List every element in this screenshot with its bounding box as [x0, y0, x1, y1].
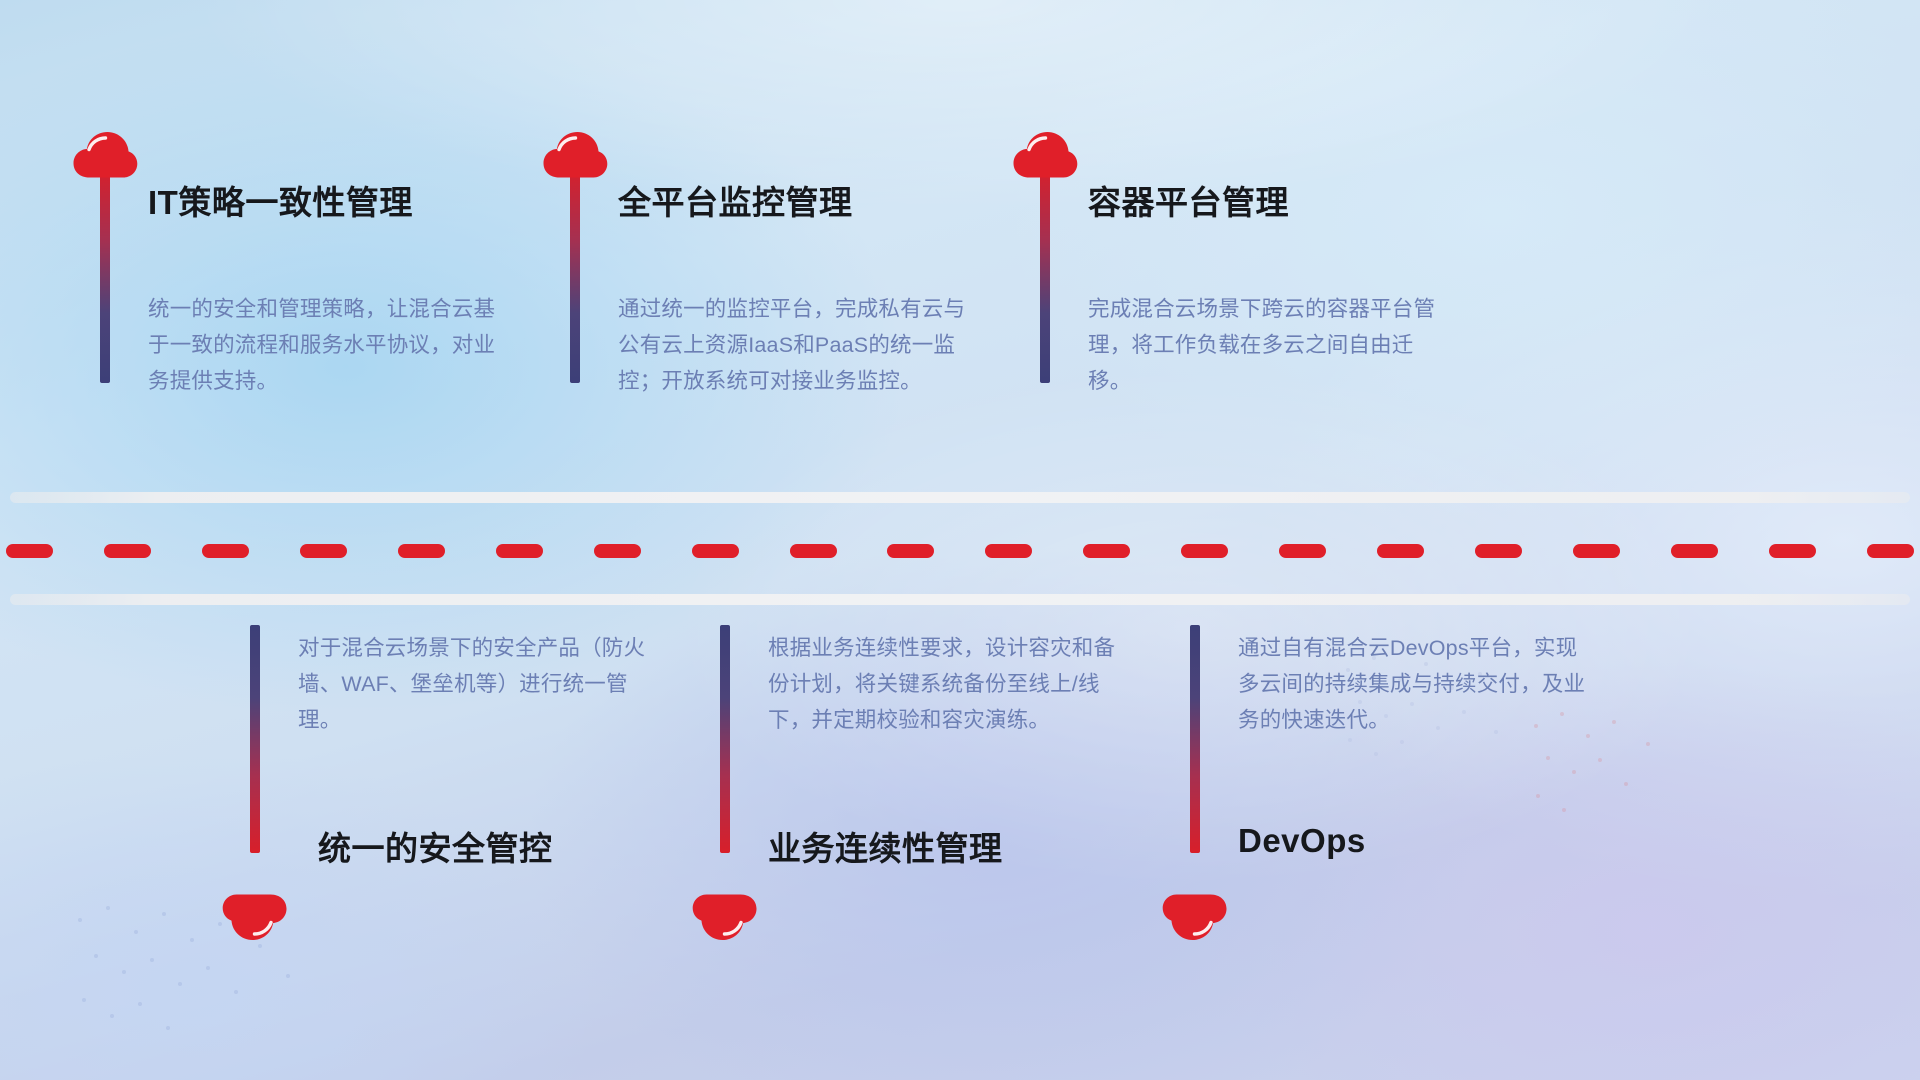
dash-segment: [692, 544, 739, 558]
divider-dashed-line: [0, 544, 1920, 558]
connector-line: [1190, 625, 1200, 853]
section-title: 统一的安全管控: [318, 822, 553, 870]
cloud-icon: [1162, 890, 1228, 942]
divider-bar-top: [10, 492, 1910, 503]
section-body: 根据业务连续性要求，设计容灾和备份计划，将关键系统备份至线上/线下，并定期校验和…: [768, 630, 1118, 738]
dash-segment: [594, 544, 641, 558]
connector-line: [720, 625, 730, 853]
dash-segment: [6, 544, 53, 558]
section-title: 容器平台管理: [1088, 176, 1289, 224]
dash-segment: [104, 544, 151, 558]
section-body: 统一的安全和管理策略，让混合云基于一致的流程和服务水平协议，对业务提供支持。: [148, 291, 496, 399]
cloud-icon: [542, 130, 608, 182]
cloud-icon: [222, 890, 288, 942]
section-body: 完成混合云场景下跨云的容器平台管理，将工作负载在多云之间自由迁移。: [1088, 291, 1436, 399]
section-body: 对于混合云场景下的安全产品（防火墙、WAF、堡垒机等）进行统一管理。: [298, 630, 656, 738]
dash-segment: [300, 544, 347, 558]
dash-segment: [790, 544, 837, 558]
dash-segment: [985, 544, 1032, 558]
dash-segment: [496, 544, 543, 558]
section-body: 通过自有混合云DevOps平台，实现多云间的持续集成与持续交付，及业务的快速迭代…: [1238, 630, 1588, 738]
dash-segment: [202, 544, 249, 558]
infographic-canvas: IT策略一致性管理 统一的安全和管理策略，让混合云基于一致的流程和服务水平协议，…: [0, 0, 1920, 1080]
dash-segment: [398, 544, 445, 558]
dash-segment: [1671, 544, 1718, 558]
dash-segment: [1867, 544, 1914, 558]
background-sheen: [0, 0, 1920, 1080]
cloud-icon: [1012, 130, 1078, 182]
connector-line: [1040, 165, 1050, 383]
dash-segment: [1377, 544, 1424, 558]
dash-segment: [1769, 544, 1816, 558]
dash-segment: [1475, 544, 1522, 558]
dash-segment: [1279, 544, 1326, 558]
dash-segment: [1181, 544, 1228, 558]
section-title: IT策略一致性管理: [148, 176, 413, 224]
section-title: 业务连续性管理: [768, 822, 1003, 870]
connector-line: [250, 625, 260, 853]
section-title: DevOps: [1238, 822, 1366, 860]
section-body: 通过统一的监控平台，完成私有云与公有云上资源IaaS和PaaS的统一监控；开放系…: [618, 291, 966, 399]
cloud-icon: [72, 130, 138, 182]
dash-segment: [887, 544, 934, 558]
section-title: 全平台监控管理: [618, 176, 853, 224]
dot-pattern-left: [60, 880, 380, 1040]
dash-segment: [1083, 544, 1130, 558]
connector-line: [570, 165, 580, 383]
cloud-icon: [692, 890, 758, 942]
connector-line: [100, 165, 110, 383]
divider-bar-bottom: [10, 594, 1910, 605]
dash-segment: [1573, 544, 1620, 558]
